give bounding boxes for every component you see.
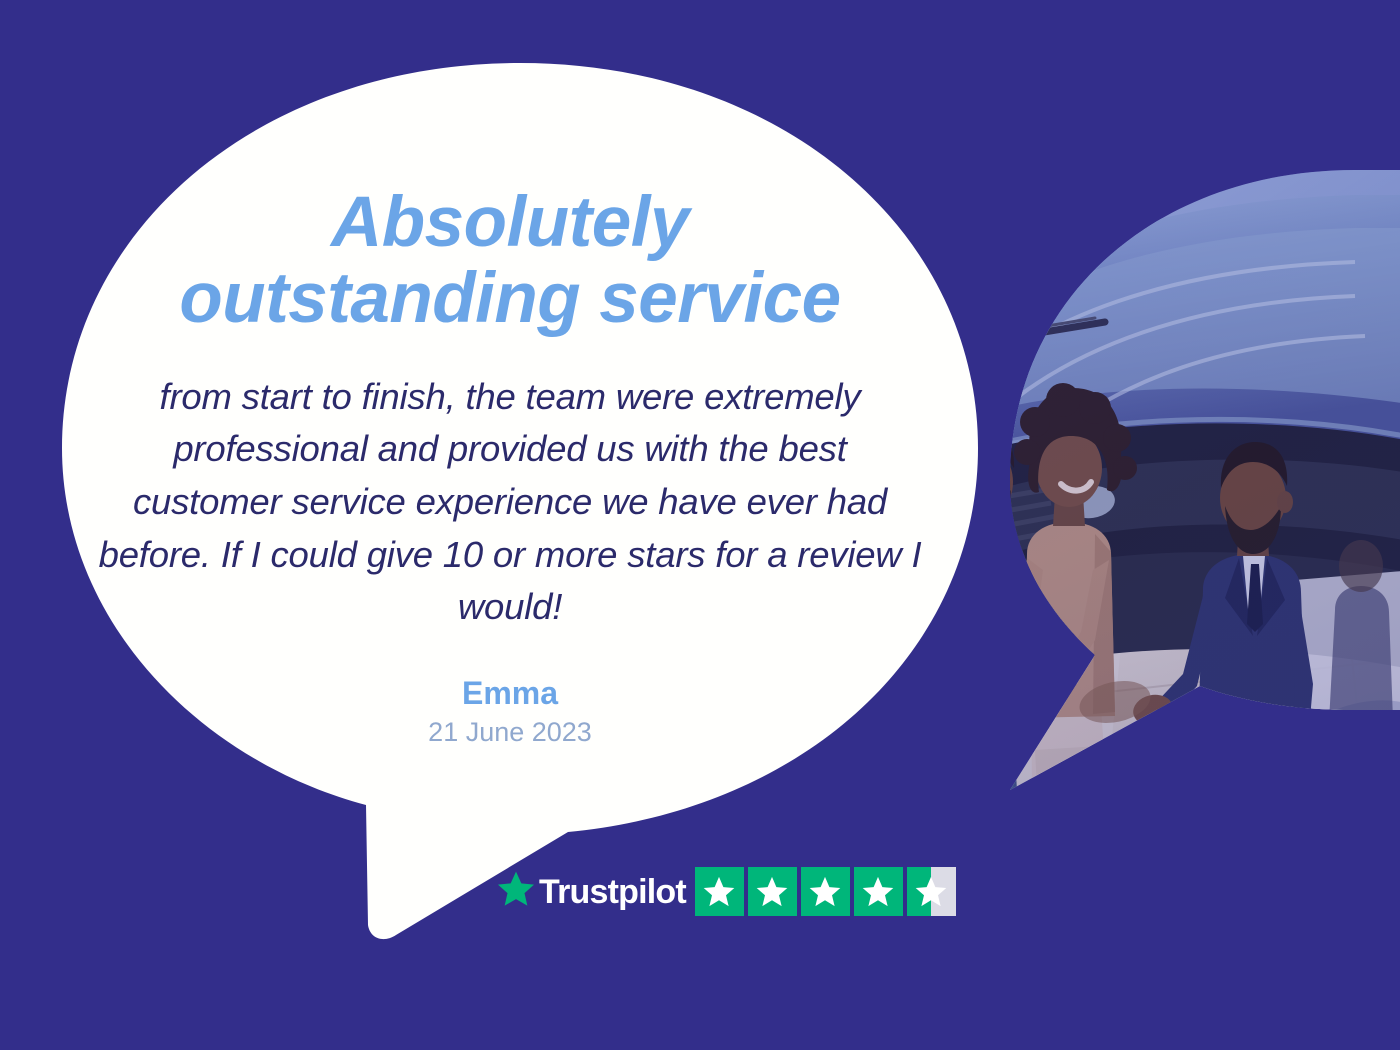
- review-body-text: from start to finish, the team were extr…: [95, 371, 925, 634]
- trustpilot-stars: [695, 867, 956, 916]
- trustpilot-star-icon: [495, 869, 537, 914]
- review-date: 21 June 2023: [95, 716, 925, 748]
- review-author-name: Emma: [95, 674, 925, 712]
- review-testimonial-card: Absolutely outstanding service from star…: [0, 0, 1400, 1050]
- review-headline: Absolutely outstanding service: [95, 185, 925, 337]
- headline-line-1: Absolutely: [331, 183, 689, 262]
- headline-line-2: outstanding service: [179, 259, 840, 338]
- rating-star-4: [854, 867, 903, 916]
- quote-content: Absolutely outstanding service from star…: [95, 185, 925, 748]
- trustpilot-wordmark: Trustpilot: [539, 875, 686, 909]
- rating-star-5-half: [907, 867, 956, 916]
- trustpilot-logo: Trustpilot: [495, 869, 686, 914]
- rating-star-1: [695, 867, 744, 916]
- trustpilot-rating[interactable]: Trustpilot: [495, 867, 956, 916]
- rating-star-2: [748, 867, 797, 916]
- rating-star-3: [801, 867, 850, 916]
